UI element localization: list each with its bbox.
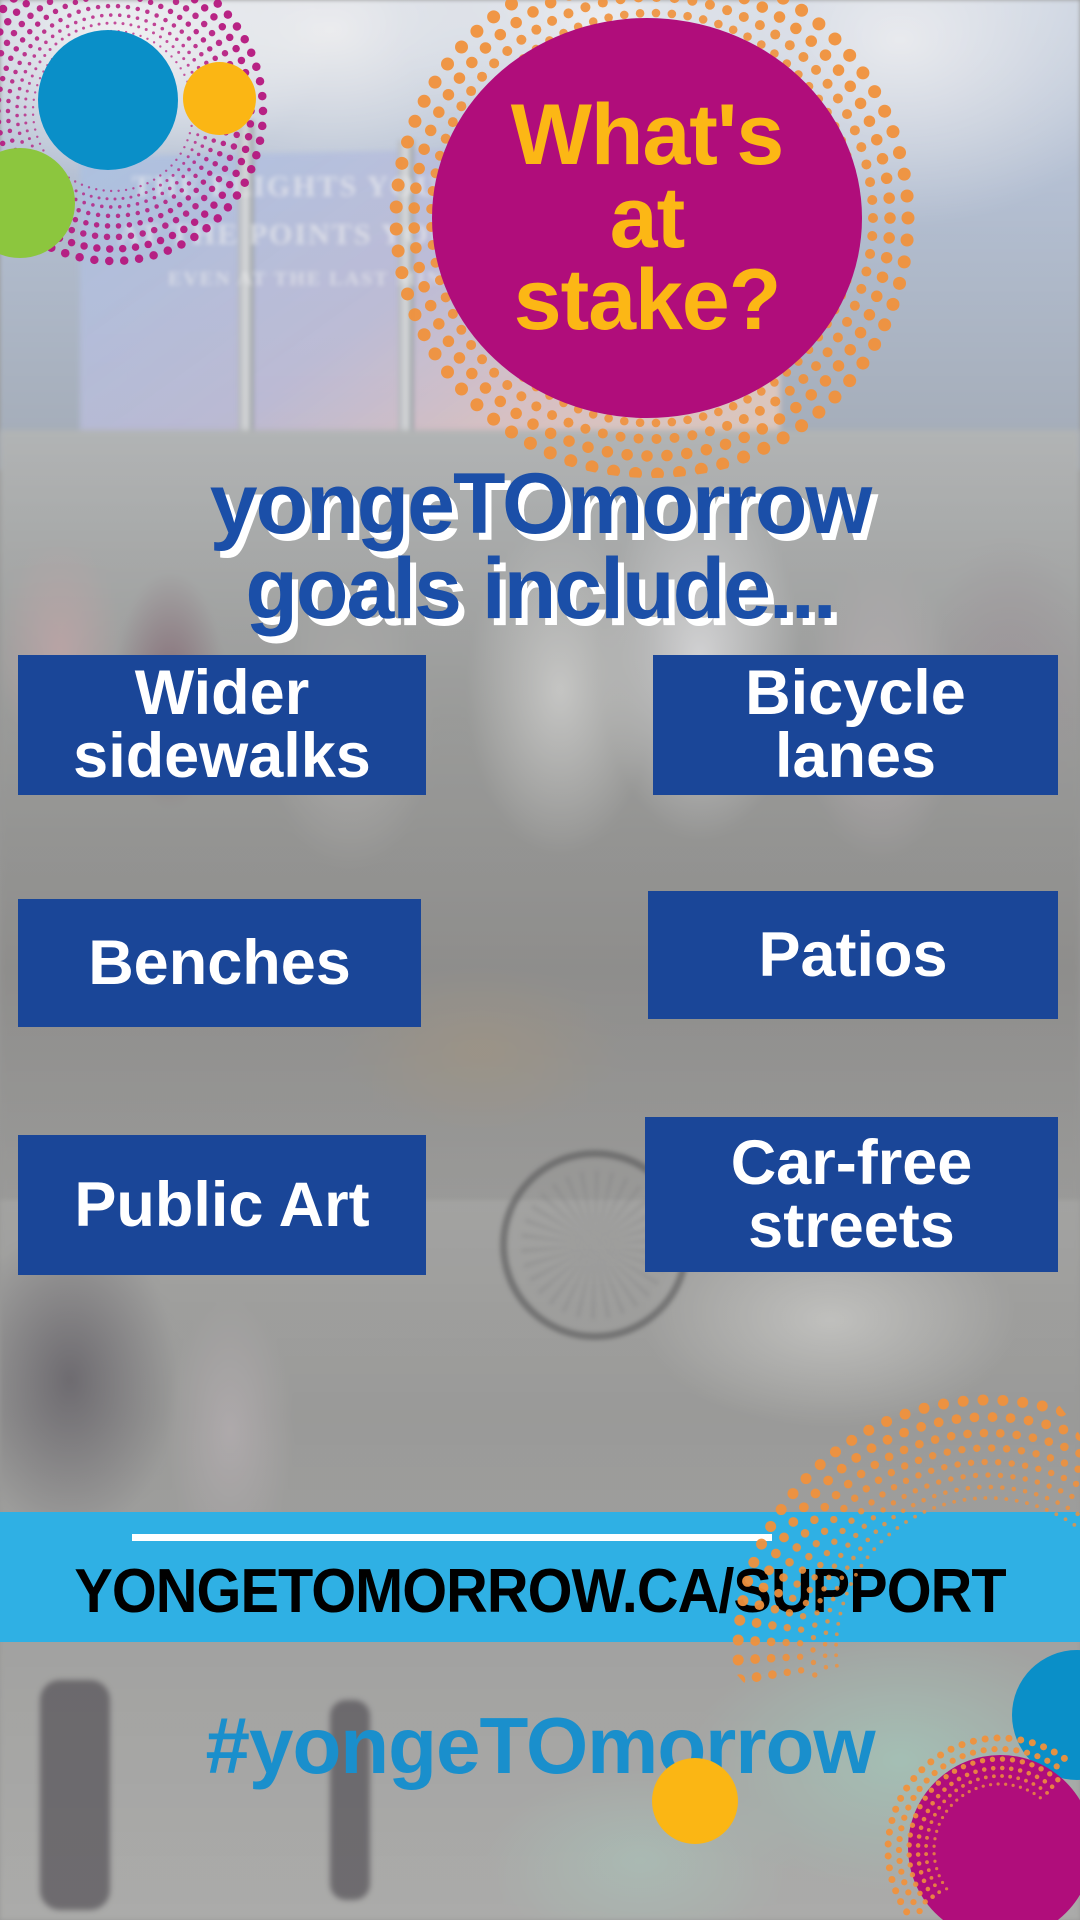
headline-line-1: yongeTOmorrow <box>0 462 1080 547</box>
badge-line-2: at <box>511 177 783 260</box>
goal-box-public-art: Public Art <box>18 1135 426 1275</box>
goal-box-benches: Benches <box>18 899 421 1027</box>
goals-row-3: Public Art Car-free streets <box>0 1127 1080 1297</box>
yellow-circle-bottom-right <box>652 1758 738 1844</box>
whats-at-stake-badge: What's at stake? <box>432 18 862 418</box>
yellow-circle-top-left <box>183 62 256 135</box>
page-title: yongeTOmorrow goals include... <box>0 462 1080 632</box>
goals-row-2: Benches Patios <box>0 891 1080 1061</box>
badge-line-3: stake? <box>511 259 783 342</box>
goals-row-1: Wider sidewalks Bicycle lanes <box>0 655 1080 825</box>
goal-box-patios: Patios <box>648 891 1058 1019</box>
poster-canvas: THE FLIGHTS YOU WANT, AT THE POINTS YOU … <box>0 0 1080 1920</box>
goal-box-bicycle-lanes: Bicycle lanes <box>653 655 1058 795</box>
goals-list: Wider sidewalks Bicycle lanes Benches Pa… <box>0 655 1080 1363</box>
badge-text: What's at stake? <box>511 94 783 342</box>
goal-box-car-free-streets: Car-free streets <box>645 1117 1058 1272</box>
blue-circle-top-left <box>38 30 178 170</box>
badge-line-1: What's <box>511 94 783 177</box>
headline-line-2: goals include... <box>0 547 1080 632</box>
goal-box-wider-sidewalks: Wider sidewalks <box>18 655 426 795</box>
url-banner-rule <box>132 1534 772 1541</box>
